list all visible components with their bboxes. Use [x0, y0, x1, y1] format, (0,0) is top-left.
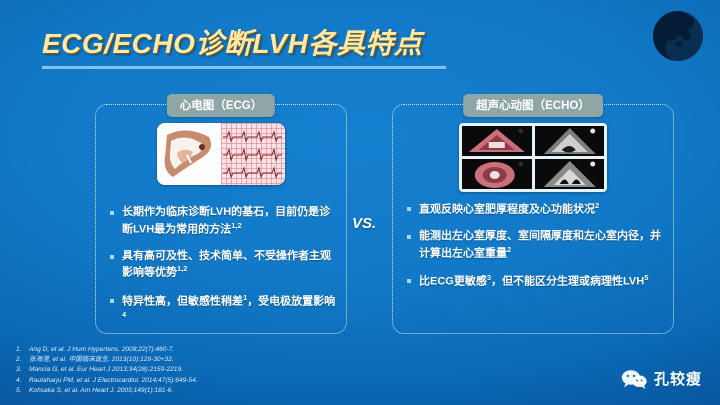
reference-number: 4.: [16, 376, 29, 386]
list-item: 特异性高，但敏感性稍差1，受电极放置影响4: [106, 293, 338, 328]
card-ecg: 心电图（ECG）: [95, 104, 347, 334]
watermark-text: 孔较瘦: [654, 368, 702, 389]
card-ecg-image-wrap: [96, 123, 346, 185]
bullet-marker-icon: [110, 211, 114, 215]
reference-item: 2. 张海澄, et al. 中国临床医生. 2013(10):129-30+3…: [16, 355, 198, 365]
reference-item: 4. Rautaharju PM, et al. J Electrocardio…: [16, 376, 198, 386]
list-item: 能测出左心室厚度、室间隔厚度和左心室内径，并计算出左心室重量2: [403, 229, 665, 262]
watermark: 孔较瘦: [621, 368, 702, 389]
heart-cross-section-icon: [157, 123, 221, 185]
bullet-marker-icon: [407, 279, 411, 283]
reference-text: 张海澄, et al. 中国临床医生. 2013(10):129-30+32.: [29, 355, 174, 365]
echo-panel-ultrasound-1: [535, 126, 605, 156]
list-item: 长期作为临床诊断LVH的基石，目前仍是诊断LVH最为常用的方法1,2: [106, 205, 338, 238]
bullet-text: 特异性高，但敏感性稍差1，受电极放置影响4: [122, 293, 338, 328]
reference-number: 2.: [16, 355, 29, 365]
echocardiogram-four-panel-thumbnail: [459, 123, 607, 192]
reference-text: Ang D, et al. J Hum Hypertens. 2008;22(7…: [29, 345, 174, 355]
reference-text: Rautaharju PM, et al. J Electrocardiol. …: [29, 376, 198, 386]
echo-panel-ultrasound-2: [535, 159, 605, 189]
card-ecg-header: 心电图（ECG）: [167, 94, 275, 117]
bullet-marker-icon: [407, 235, 411, 239]
title-underline: [42, 66, 446, 69]
card-echo-bullet-list: 直观反映心室肥厚程度及心功能状况2 能测出左心室厚度、室间隔厚度和左心室内径，并…: [403, 201, 665, 301]
reference-number: 1.: [16, 345, 29, 355]
page-title: ECG/ECHO诊断LVH各具特点: [42, 22, 422, 62]
bullet-text: 能测出左心室厚度、室间隔厚度和左心室内径，并计算出左心室重量2: [419, 229, 665, 262]
echo-panel-anatomical-1: [462, 126, 532, 156]
reference-item: 3. Mancia G, et al. Eur Heart J 2013;34(…: [16, 365, 198, 375]
echo-panel-anatomical-2: [462, 159, 532, 189]
vs-divider-label: VS.: [352, 215, 376, 232]
bullet-marker-icon: [407, 207, 411, 211]
bullet-text: 长期作为临床诊断LVH的基石，目前仍是诊断LVH最为常用的方法1,2: [122, 205, 338, 238]
panda-circle-logo: [650, 8, 706, 64]
reference-number: 3.: [16, 365, 29, 375]
bullet-marker-icon: [110, 255, 114, 259]
card-echo-header: 超声心动图（ECHO）: [463, 94, 603, 117]
reference-text: Kohsaka S, et al. Am Heart J. 2005;149(1…: [29, 386, 173, 396]
references-list: 1. Ang D, et al. J Hum Hypertens. 2008;2…: [16, 345, 198, 396]
slide-canvas: ECG/ECHO诊断LVH各具特点 心电图（ECG）: [0, 0, 720, 405]
reference-item: 1. Ang D, et al. J Hum Hypertens. 2008;2…: [16, 345, 198, 355]
list-item: 比ECG更敏感3，但不能区分生理或病理性LVH5: [403, 273, 665, 290]
bullet-marker-icon: [110, 299, 114, 303]
reference-number: 5.: [16, 386, 29, 396]
bullet-text: 比ECG更敏感3，但不能区分生理或病理性LVH5: [419, 273, 648, 290]
card-ecg-bullet-list: 长期作为临床诊断LVH的基石，目前仍是诊断LVH最为常用的方法1,2 具有高可及…: [106, 205, 338, 338]
reference-item: 5. Kohsaka S, et al. Am Heart J. 2005;14…: [16, 386, 198, 396]
list-item: 直观反映心室肥厚程度及心功能状况2: [403, 201, 665, 218]
wechat-icon: [621, 369, 647, 389]
bullet-text: 直观反映心室肥厚程度及心功能状况2: [419, 201, 599, 218]
card-echo-image-wrap: [393, 123, 673, 192]
card-echo: 超声心动图（ECHO）: [392, 104, 674, 334]
bullet-text: 具有高可及性、技术简单、不受操作者主观影响等优势1,2: [122, 249, 338, 282]
ecg-heart-illustration-thumbnail: [157, 123, 285, 185]
reference-text: Mancia G, et al. Eur Heart J 2013;34(28)…: [29, 365, 183, 375]
ecg-waveform-strip: [221, 123, 285, 185]
list-item: 具有高可及性、技术简单、不受操作者主观影响等优势1,2: [106, 249, 338, 282]
